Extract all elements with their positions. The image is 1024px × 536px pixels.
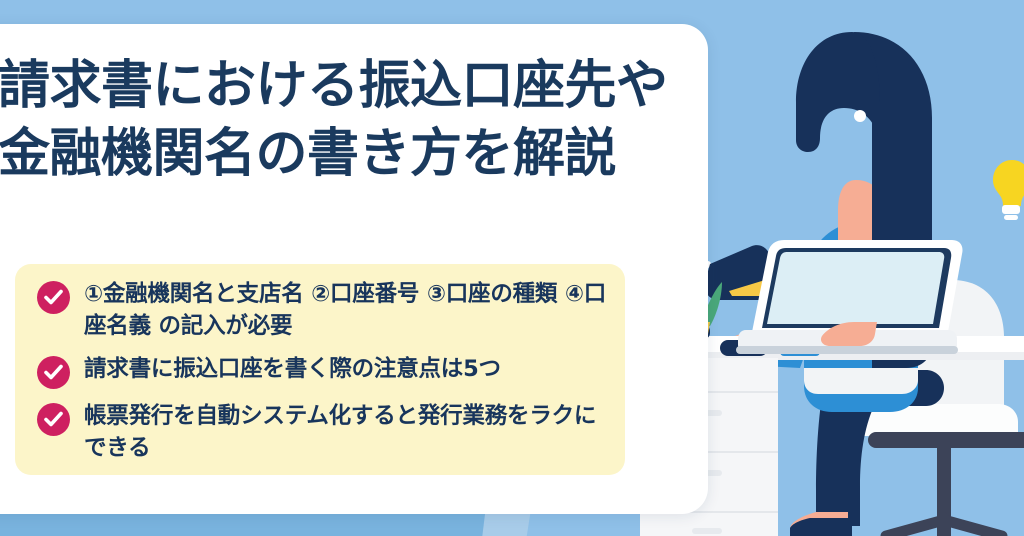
check-circle-icon: [37, 356, 70, 389]
check-circle-icon: [37, 403, 70, 436]
key-point-item: 帳票発行を自動システム化すると発行業務をラクにできる: [37, 400, 607, 464]
key-point-text: 請求書に振込口座を書く際の注意点は5つ: [84, 353, 501, 385]
page-title: 請求書における振込口座先や 金融機関名の書き方を解説: [0, 52, 698, 188]
key-point-text: 帳票発行を自動システム化すると発行業務をラクにできる: [84, 400, 607, 464]
key-points-box: ①金融機関名と支店名 ②口座番号 ③口座の種類 ④口座名義 の記入が必要 請求書…: [15, 264, 625, 475]
check-circle-icon: [37, 281, 70, 314]
key-point-text: ①金融機関名と支店名 ②口座番号 ③口座の種類 ④口座名義 の記入が必要: [84, 278, 607, 342]
key-point-item: 請求書に振込口座を書く際の注意点は5つ: [37, 353, 607, 389]
banner-image: 請求書における振込口座先や 金融機関名の書き方を解説 ①金融機関名と支店名 ②口…: [0, 0, 1024, 536]
key-point-item: ①金融機関名と支店名 ②口座番号 ③口座の種類 ④口座名義 の記入が必要: [37, 278, 607, 342]
